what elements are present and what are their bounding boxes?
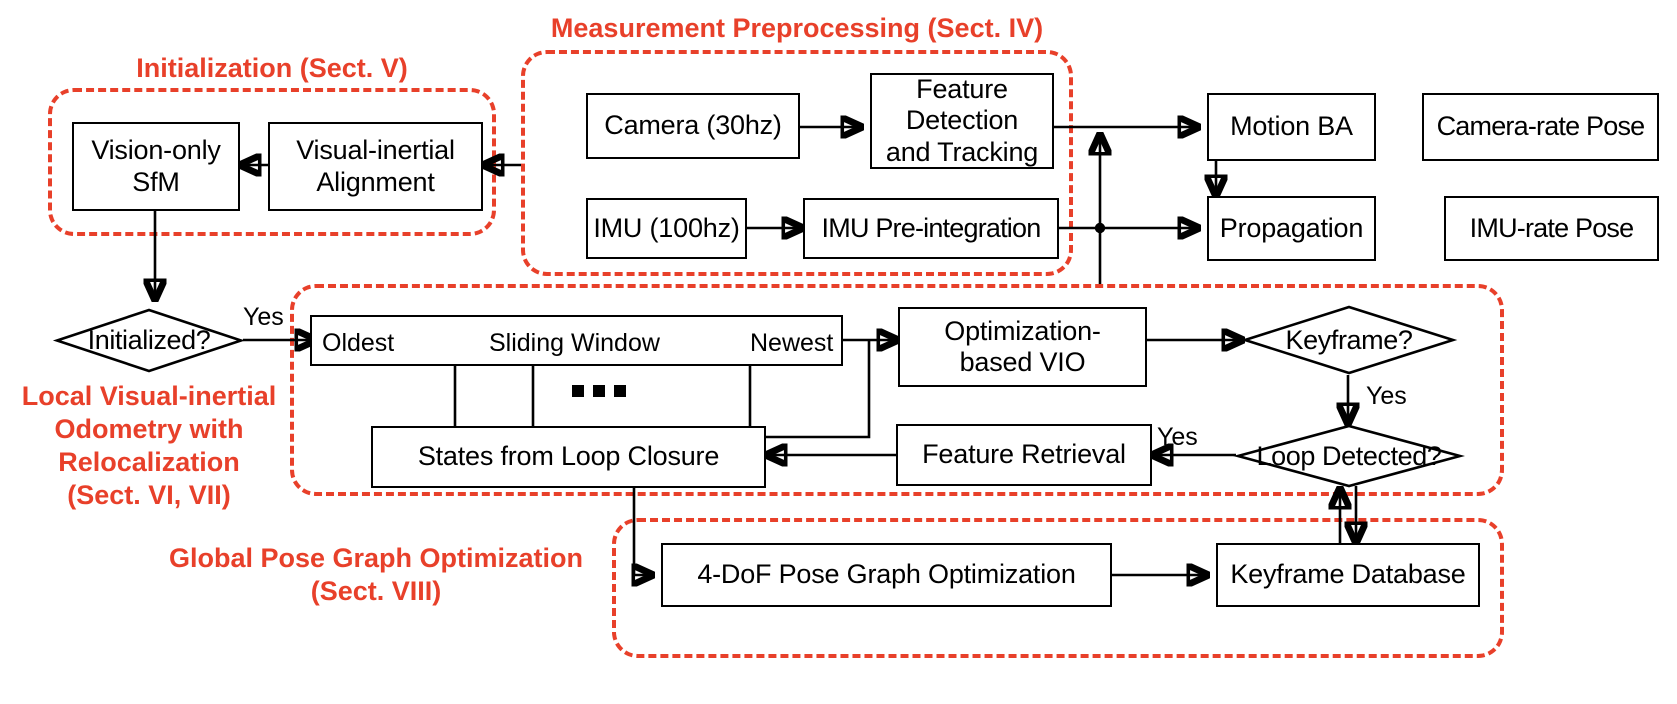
block-imu[interactable]: IMU (100hz): [586, 198, 747, 259]
decision-loop-detected[interactable]: Loop Detected?: [1236, 424, 1462, 488]
caption-local-vio: Local Visual-inertial Odometry with Relo…: [8, 380, 290, 512]
decision-initialized[interactable]: Initialized?: [55, 308, 243, 373]
edge-label-keyframe-yes: Yes: [1366, 382, 1407, 411]
decision-initialized-label: Initialized?: [55, 308, 243, 373]
block-imu-rate-pose[interactable]: IMU-rate Pose: [1444, 196, 1659, 261]
edge-label-loop-detected-yes: Yes: [1157, 423, 1198, 452]
block-imu-preintegration[interactable]: IMU Pre-integration: [803, 198, 1059, 259]
edge-label-initialized-yes: Yes: [243, 303, 284, 332]
decision-keyframe-label: Keyframe?: [1243, 305, 1455, 375]
sliding-window-newest-label: Newest: [750, 329, 833, 358]
caption-measurement-preprocessing: Measurement Preprocessing (Sect. IV): [521, 12, 1073, 45]
block-vision-only-sfm[interactable]: Vision-only SfM: [72, 122, 240, 211]
block-camera[interactable]: Camera (30hz): [586, 93, 800, 159]
decision-loop-detected-label: Loop Detected?: [1236, 424, 1462, 488]
caption-global-pose-graph: Global Pose Graph Optimization (Sect. VI…: [150, 542, 602, 608]
block-states-from-loop-closure[interactable]: States from Loop Closure: [371, 426, 766, 488]
sliding-window-ellipsis-icon: [572, 385, 626, 397]
caption-initialization: Initialization (Sect. V): [48, 52, 496, 85]
block-feature-retrieval[interactable]: Feature Retrieval: [896, 424, 1152, 486]
block-feature-detection-and-tracking[interactable]: Feature Detection and Tracking: [870, 73, 1054, 169]
decision-keyframe[interactable]: Keyframe?: [1243, 305, 1455, 375]
architecture-diagram: Initialization (Sect. V) Measurement Pre…: [0, 0, 1677, 704]
block-visual-inertial-alignment[interactable]: Visual-inertial Alignment: [268, 122, 483, 211]
block-pose-graph-optimization[interactable]: 4-DoF Pose Graph Optimization: [661, 543, 1112, 607]
sliding-window-title-label: Sliding Window: [489, 329, 660, 358]
block-propagation[interactable]: Propagation: [1207, 196, 1376, 261]
block-camera-rate-pose[interactable]: Camera-rate Pose: [1422, 93, 1659, 161]
sliding-window-oldest-label: Oldest: [322, 329, 394, 358]
block-keyframe-database[interactable]: Keyframe Database: [1216, 543, 1480, 607]
block-motion-ba[interactable]: Motion BA: [1207, 93, 1376, 161]
block-optimization-based-vio[interactable]: Optimization- based VIO: [898, 307, 1147, 387]
